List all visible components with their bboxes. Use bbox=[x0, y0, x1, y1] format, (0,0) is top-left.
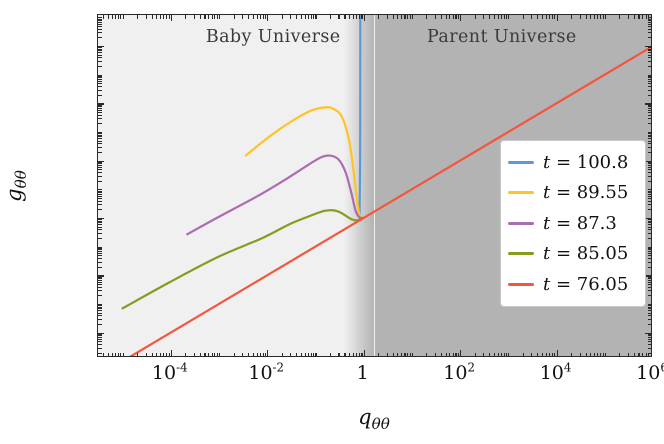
legend-item-3[interactable]: t = 85.05 bbox=[508, 239, 637, 270]
x-axis-title-var: q bbox=[358, 405, 371, 429]
y-axis-title: gθθ bbox=[2, 170, 26, 202]
legend-item-0[interactable]: t = 100.8 bbox=[508, 147, 637, 178]
figure-canvas: Baby Universe Parent Universe 10-410-211… bbox=[0, 0, 664, 444]
legend-item-4[interactable]: t = 76.05 bbox=[508, 269, 637, 300]
legend-box: t = 100.8t = 89.55t = 87.3t = 85.05t = 7… bbox=[500, 140, 646, 307]
x-axis-title: qθθ bbox=[358, 405, 390, 429]
legend-label-2: t = 87.3 bbox=[543, 213, 617, 234]
legend-label-0: t = 100.8 bbox=[543, 152, 628, 173]
legend-swatch-icon-2 bbox=[508, 222, 534, 225]
legend-label-3: t = 85.05 bbox=[543, 243, 628, 264]
legend-label-1: t = 89.55 bbox=[543, 182, 628, 203]
legend-swatch-icon-1 bbox=[508, 191, 534, 194]
legend-label-4: t = 76.05 bbox=[543, 274, 628, 295]
legend-swatch-icon-3 bbox=[508, 252, 534, 255]
legend-swatch-icon-0 bbox=[508, 161, 534, 164]
legend-item-2[interactable]: t = 87.3 bbox=[508, 208, 637, 239]
legend-item-1[interactable]: t = 89.55 bbox=[508, 178, 637, 209]
legend-swatch-icon-4 bbox=[508, 283, 534, 286]
y-axis-title-var: g bbox=[2, 188, 26, 201]
y-axis-title-sub: θθ bbox=[12, 170, 30, 188]
x-axis-title-sub: θθ bbox=[372, 415, 390, 433]
